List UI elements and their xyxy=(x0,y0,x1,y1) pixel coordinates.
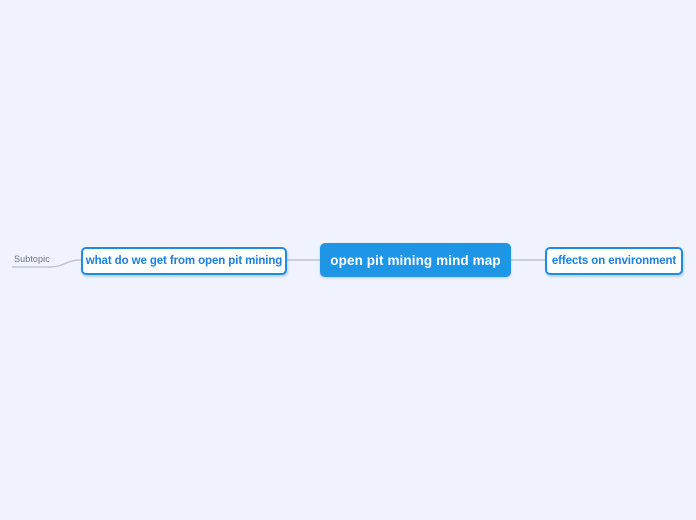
mindmap-node-subtopic-placeholder[interactable]: Subtopic xyxy=(14,252,50,266)
mindmap-node-what-do-we-get-from-open-pit-mining[interactable]: what do we get from open pit mining xyxy=(81,247,287,275)
subtopic-placeholder-label: Subtopic xyxy=(14,254,50,264)
node-left-label: what do we get from open pit mining xyxy=(86,255,282,267)
mindmap-node-effects-on-environment[interactable]: effects on environment xyxy=(545,247,683,275)
mindmap-node-root[interactable]: open pit mining mind map xyxy=(320,243,511,277)
mindmap-canvas[interactable]: open pit mining mind map what do we get … xyxy=(0,0,696,520)
node-right-label: effects on environment xyxy=(552,255,676,267)
node-root-label: open pit mining mind map xyxy=(330,253,500,268)
